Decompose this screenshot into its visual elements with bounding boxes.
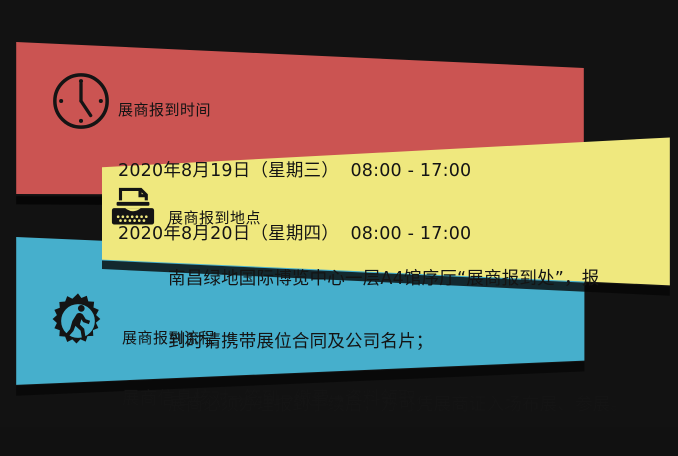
checkin-location-line-2: 到时请携带展位合同及公司名片； [168,330,628,355]
checkin-location-line-3: 展商必须办理报到手续后，方可凭展商证入场布展、参展。 [168,393,628,418]
gear-runner-icon [48,291,108,351]
typewriter-icon [108,180,158,230]
checkin-location-line-1: 南昌绿地国际博览中心一层A4馆序厅“展商报到处”，报 [168,267,628,292]
clock-icon [50,70,112,132]
checkin-location-content: 展商报到地点 南昌绿地国际博览中心一层A4馆序厅“展商报到处”，报 到时请携带展… [168,170,628,456]
checkin-location-heading: 展商报到地点 [168,208,628,229]
checkin-time-heading: 展商报到时间 [118,100,471,121]
checkin-location-text: 展商报到地点 南昌绿地国际博览中心一层A4馆序厅“展商报到处”，报 到时请携带展… [168,170,628,456]
poster-canvas: 展商报到时间 2020年8月19日（星期三） 08:00 - 17:00 202… [0,0,678,427]
